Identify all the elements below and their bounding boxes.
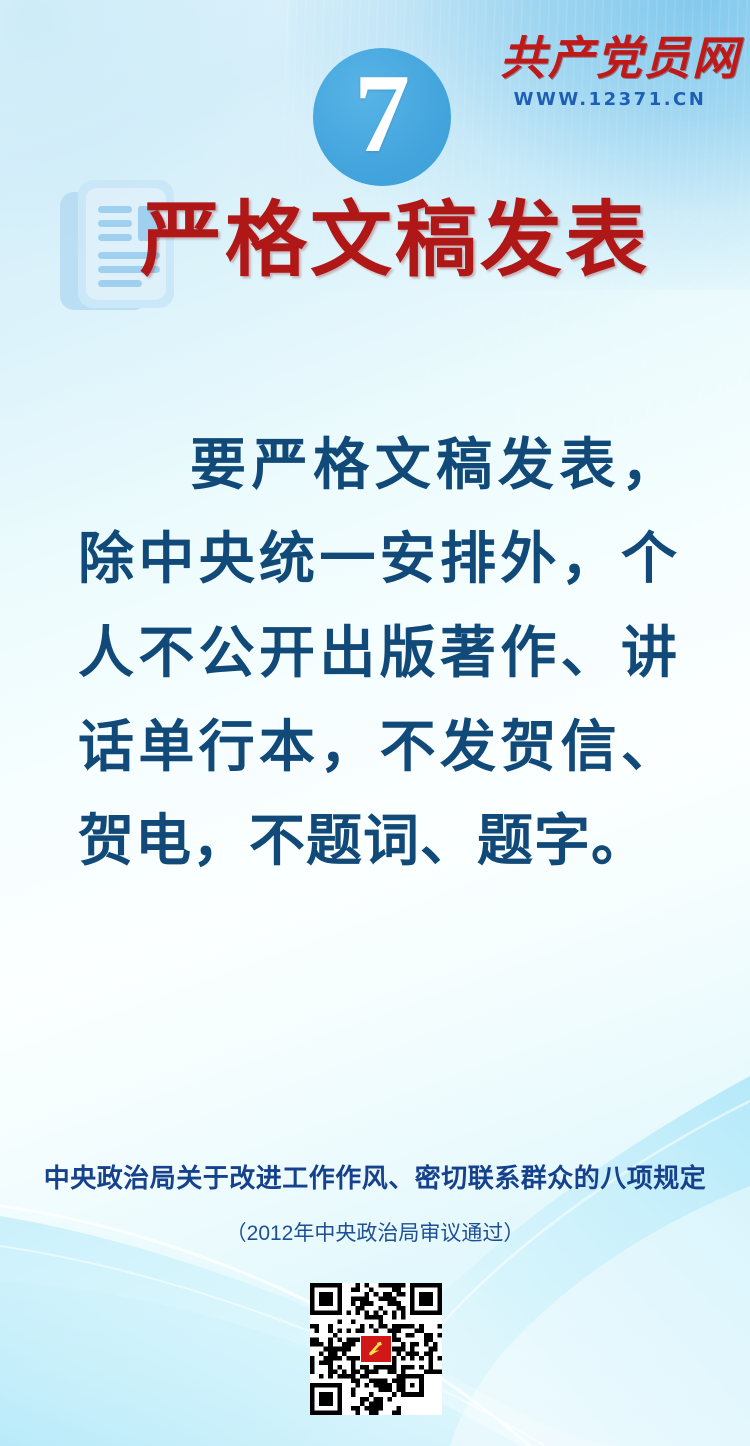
poster-root: 共产党员网 WWW.12371.CN 7 严格文稿发表 要严格文稿发表，除中央统… xyxy=(0,0,750,1446)
item-number: 7 xyxy=(354,58,410,170)
qr-code[interactable] xyxy=(310,1283,442,1415)
site-logo-url: WWW.12371.CN xyxy=(500,91,720,109)
regulation-title: 中央政治局关于改进工作作风、密切联系群众的八项规定 xyxy=(0,1158,750,1195)
regulation-subtitle: （2012年中央政治局审议通过） xyxy=(0,1217,750,1247)
page-title: 严格文稿发表 xyxy=(140,197,660,286)
hammer-sickle-glyph xyxy=(365,1340,387,1358)
party-emblem-icon xyxy=(360,1335,392,1363)
site-logo-name: 共产党员网 xyxy=(500,36,720,82)
site-logo[interactable]: 共产党员网 WWW.12371.CN xyxy=(500,36,720,109)
body-paragraph: 要严格文稿发表，除中央统一安排外，个人不公开出版著作、讲话单行本，不发贺信、贺电… xyxy=(78,418,678,888)
item-number-badge: 7 xyxy=(313,48,451,186)
